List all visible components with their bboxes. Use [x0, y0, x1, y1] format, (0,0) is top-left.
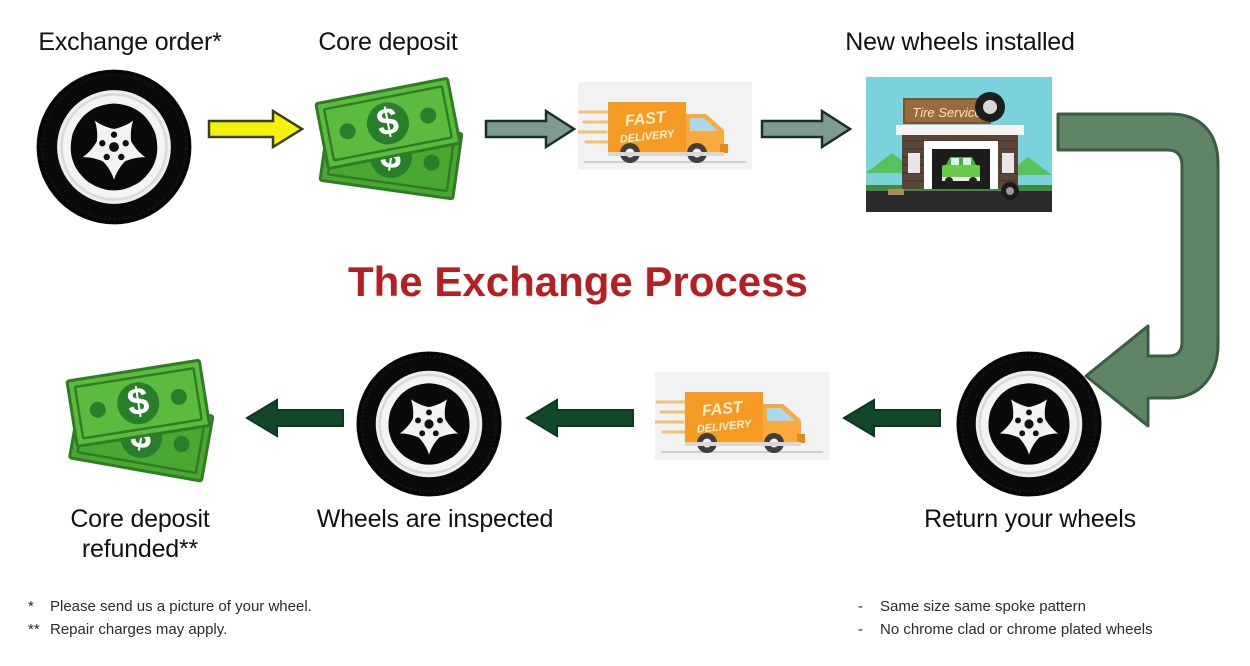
alloy-wheel-inspected-icon: [355, 350, 503, 498]
footnotes-left: * Please send us a picture of your wheel…: [28, 595, 312, 642]
arrow-truck-to-garage: [760, 108, 852, 150]
footnote-mark: -: [858, 618, 880, 641]
page-title: The Exchange Process: [348, 258, 808, 306]
footnote-right-row: - Same size same spoke pattern: [858, 595, 1153, 618]
alloy-wheel-return-icon: [955, 350, 1103, 498]
footnote-text: Please send us a picture of your wheel.: [50, 595, 312, 618]
tire-service-garage-icon: Tire Service: [866, 77, 1052, 212]
alloy-wheel-icon: [35, 68, 193, 226]
footnote-left-row: ** Repair charges may apply.: [28, 618, 312, 641]
dollar-bills-icon: $ $: [305, 72, 477, 207]
footnote-text: Same size same spoke pattern: [880, 595, 1086, 618]
footnote-mark: **: [28, 618, 50, 641]
footnote-left-row: * Please send us a picture of your wheel…: [28, 595, 312, 618]
step-label-core-deposit: Core deposit: [288, 28, 488, 58]
exchange-process-diagram: Exchange order* Core deposit New wheels …: [0, 0, 1250, 666]
step-label-wheels-are-inspected: Wheels are inspected: [305, 505, 565, 535]
dollar-bills-refund-icon: $ $: [55, 352, 227, 487]
arrow-deposit-to-truck: [484, 108, 576, 150]
step-label-return-your-wheels: Return your wheels: [900, 505, 1160, 535]
step-label-new-wheels-installed: New wheels installed: [800, 28, 1120, 58]
fast-delivery-truck-return-icon: FAST DELIVERY: [655, 372, 829, 460]
arrow-return-to-truck: [840, 398, 942, 438]
footnotes-right: - Same size same spoke pattern - No chro…: [858, 595, 1153, 642]
garage-sign-text: Tire Service: [912, 105, 981, 120]
step-label-core-deposit-refunded-line2: refunded**: [20, 535, 260, 565]
fast-delivery-truck-icon: FAST DELIVERY: [578, 82, 752, 170]
footnote-mark: -: [858, 595, 880, 618]
footnote-text: Repair charges may apply.: [50, 618, 227, 641]
step-label-core-deposit-refunded-line1: Core deposit: [20, 505, 260, 535]
step-label-exchange-order: Exchange order*: [0, 28, 260, 58]
footnote-mark: *: [28, 595, 50, 618]
footnote-text: No chrome clad or chrome plated wheels: [880, 618, 1153, 641]
arrow-order-to-deposit: [207, 108, 304, 150]
arrow-inspect-to-refund: [243, 398, 345, 438]
footnote-right-row: - No chrome clad or chrome plated wheels: [858, 618, 1153, 641]
arrow-truck-to-inspect: [523, 398, 635, 438]
